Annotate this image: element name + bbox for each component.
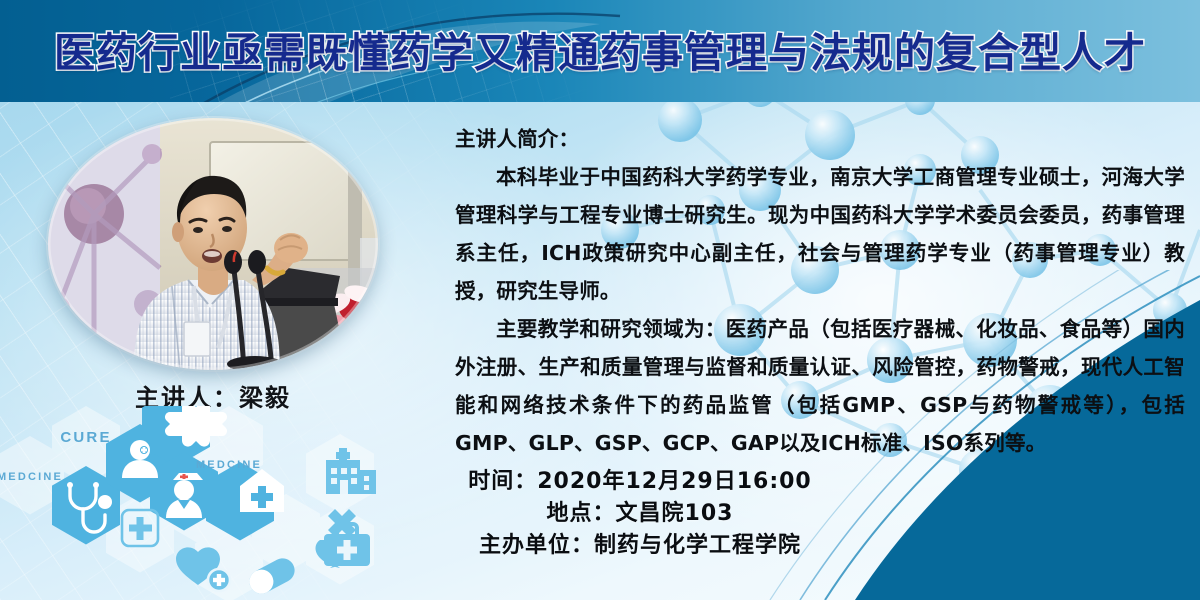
- speaker-name-label: 主讲人：梁毅: [48, 378, 378, 413]
- hexagon-home-cross: [206, 462, 274, 541]
- heart-plus-icon: [176, 547, 230, 591]
- hexagon-cross-burst: [142, 406, 210, 467]
- hexagon-label-medcine-left: MEDCINE: [0, 471, 63, 483]
- event-time: 时间：2020年12月29日16:00: [430, 466, 850, 498]
- medical-bag-icon: [324, 524, 370, 566]
- home-cross-icon: [240, 469, 284, 512]
- square-cross-icon: [122, 510, 158, 546]
- pill-icon: [245, 554, 299, 598]
- hexagon-nurse: [150, 452, 218, 531]
- stethoscope-icon: [67, 482, 112, 532]
- hexagon-stethoscope: [52, 466, 120, 545]
- caring-hands-icon: [316, 509, 357, 568]
- speaker-photo: [48, 118, 378, 370]
- speaker-bio-block: 主讲人简介： 本科毕业于中国药科大学药学专业，南京大学工商管理专业硕士，河海大学…: [455, 120, 1185, 462]
- bio-paragraph-1: 本科毕业于中国药科大学药学专业，南京大学工商管理专业硕士，河海大学管理科学与工程…: [455, 158, 1185, 310]
- nurse-icon: [166, 473, 203, 518]
- medical-hexagon-cluster: MEDCINE CURE MEDCINE: [0, 406, 410, 600]
- hexagon-doctor: [106, 424, 174, 503]
- doctor-icon: [122, 440, 158, 478]
- event-details-block: 时间：2020年12月29日16:00 地点：文昌院103 主办单位：制药与化学…: [430, 466, 850, 562]
- hexagon-label-medcine-right: MEDCINE: [196, 459, 262, 471]
- event-host: 主办单位：制药与化学工程学院: [430, 530, 850, 562]
- bio-paragraph-2: 主要教学和研究领域为：医药产品（包括医疗器械、化妆品、食品等）国内外注册、生产和…: [455, 310, 1185, 462]
- bio-heading: 主讲人简介：: [455, 120, 1185, 158]
- poster-canvas: 医药行业亟需既懂药学又精通药事管理与法规的复合型人才: [0, 0, 1200, 600]
- event-place: 地点：文昌院103: [430, 498, 850, 530]
- hexagon-label-cure: CURE: [60, 429, 111, 446]
- page-title: 医药行业亟需既懂药学又精通药事管理与法规的复合型人才: [0, 30, 1200, 76]
- hospital-icon: [326, 448, 376, 494]
